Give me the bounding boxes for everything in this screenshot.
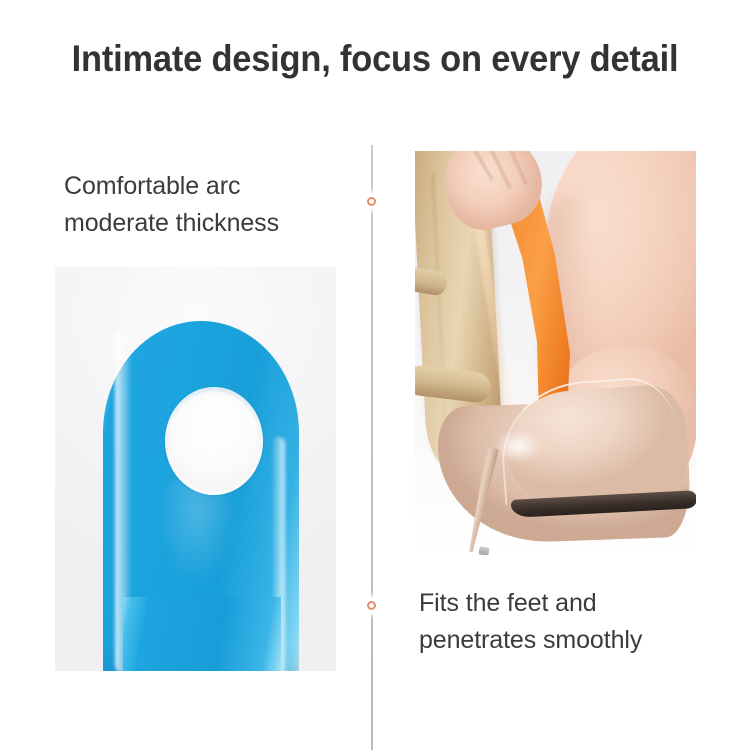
finger-crease (469, 151, 494, 181)
stiletto-heel-tip (478, 546, 489, 555)
shoe-horn-hole-rim (165, 387, 263, 495)
finger-crease (486, 151, 511, 189)
product-photo-in-use (415, 151, 696, 555)
infographic-page: Intimate design, focus on every detail C… (0, 0, 750, 750)
product-photo-blue-shoe-horn (55, 267, 336, 671)
caption-line-2: penetrates smoothly (419, 622, 642, 659)
page-title: Intimate design, focus on every detail (26, 38, 724, 80)
feature-caption-comfortable-arc: Comfortable arc moderate thickness (64, 168, 279, 242)
caption-line-2: moderate thickness (64, 205, 279, 242)
caption-line-1: Fits the feet and (419, 585, 642, 622)
finger-crease (506, 151, 527, 185)
caption-line-1: Comfortable arc (64, 168, 279, 205)
shoe-horn-shaft (123, 597, 281, 671)
feature-caption-fits-the-feet: Fits the feet and penetrates smoothly (419, 585, 642, 659)
vertical-divider (371, 145, 373, 750)
connector-dot-top (364, 194, 379, 209)
connector-dot-bottom (364, 598, 379, 613)
